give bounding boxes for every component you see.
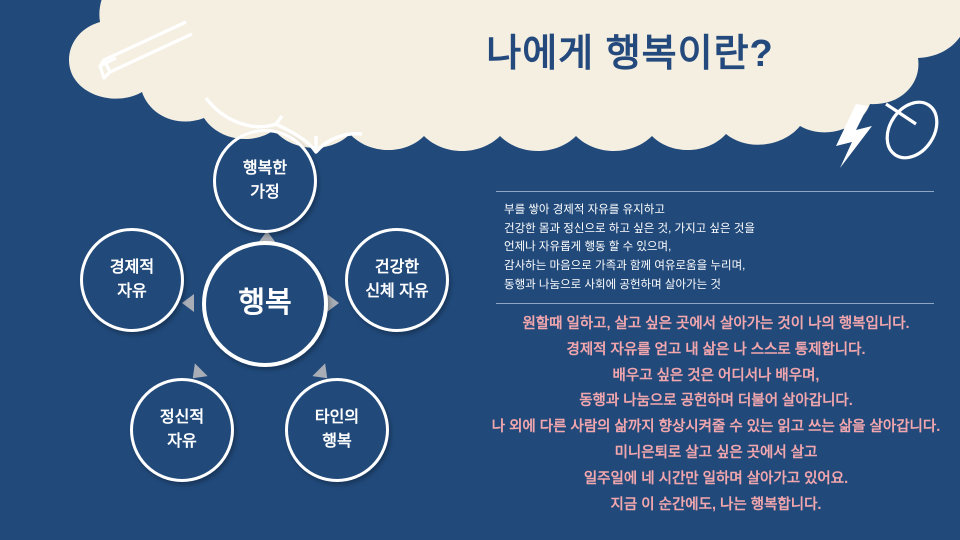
definition-line: 부를 쌓아 경제적 자유를 유지하고 bbox=[504, 201, 934, 220]
definition-line: 동행과 나눔으로 사회에 공헌하며 살아가는 것 bbox=[504, 276, 934, 295]
definition-line: 건강한 몸과 정신으로 하고 싶은 것, 가지고 싶은 것을 bbox=[504, 220, 934, 239]
node-label-line2: 가정 bbox=[250, 181, 279, 205]
creed-line: 미니은퇴로 살고 싶은 곳에서 살고 bbox=[486, 441, 946, 467]
diagram-node-others-happiness[interactable]: 타인의 행복 bbox=[285, 378, 389, 482]
definition-block: 부를 쌓아 경제적 자유를 유지하고 건강한 몸과 정신으로 하고 싶은 것, … bbox=[496, 191, 934, 304]
diagram-node-economic-freedom[interactable]: 경제적 자유 bbox=[80, 228, 184, 332]
diagram-node-physical-freedom[interactable]: 건강한 신체 자유 bbox=[345, 228, 449, 332]
node-label-line1: 행복한 bbox=[243, 157, 287, 181]
definition-line: 언제나 자유롭게 행동 할 수 있으며, bbox=[504, 238, 934, 257]
node-label-line2: 신체 자유 bbox=[365, 280, 428, 304]
arrow-right-icon bbox=[327, 294, 339, 312]
page-title: 나에게 행복이란? bbox=[330, 22, 930, 77]
creed-line: 동행과 나눔으로 공헌하며 더불어 살아갑니다. bbox=[486, 389, 946, 415]
creed-line: 나 외에 다른 사람의 삶까지 향상시켜줄 수 있는 읽고 쓰는 삶을 살아갑니… bbox=[486, 415, 946, 441]
arrow-left-icon bbox=[182, 294, 194, 312]
creed-line: 배우고 싶은 것은 어디서나 배우며, bbox=[486, 364, 946, 390]
creed-line: 지금 이 순간에도, 나는 행복합니다. bbox=[486, 493, 946, 519]
node-label-line1: 경제적 bbox=[110, 256, 154, 280]
lightning-bolt-icon bbox=[836, 104, 872, 168]
node-label-line1: 건강한 bbox=[375, 256, 419, 280]
node-label-line2: 자유 bbox=[117, 280, 146, 304]
node-label-line1: 타인의 bbox=[315, 406, 359, 430]
creed-line: 원할때 일하고, 살고 싶은 곳에서 살아가는 것이 나의 행복입니다. bbox=[486, 312, 946, 338]
diagram-node-mental-freedom[interactable]: 정신적 자유 bbox=[130, 378, 234, 482]
node-label-line2: 행복 bbox=[322, 430, 351, 454]
slide-canvas: 나에게 행복이란? 행복한 가정 경제적 자유 건강한 신체 자유 정신적 자유… bbox=[0, 0, 960, 540]
diagram-node-center-happiness[interactable]: 행복 bbox=[202, 241, 328, 367]
node-label-line1: 정신적 bbox=[160, 406, 204, 430]
creed-block: 원할때 일하고, 살고 싶은 곳에서 살아가는 것이 나의 행복입니다. 경제적… bbox=[486, 312, 946, 518]
pencil-icon bbox=[100, 22, 192, 78]
node-label-line2: 자유 bbox=[167, 430, 196, 454]
computer-mouse-icon bbox=[877, 93, 947, 167]
creed-line: 일주일에 네 시간만 일하며 살아가고 있어요. bbox=[486, 467, 946, 493]
happiness-diagram: 행복한 가정 경제적 자유 건강한 신체 자유 정신적 자유 타인의 행복 행복 bbox=[55, 118, 475, 498]
diagram-node-happy-family[interactable]: 행복한 가정 bbox=[213, 129, 317, 233]
center-node-label: 행복 bbox=[238, 282, 291, 326]
definition-line: 감사하는 마음으로 가족과 함께 여유로움을 누리며, bbox=[504, 257, 934, 276]
creed-line: 경제적 자유를 얻고 내 삶은 나 스스로 통제합니다. bbox=[486, 338, 946, 364]
